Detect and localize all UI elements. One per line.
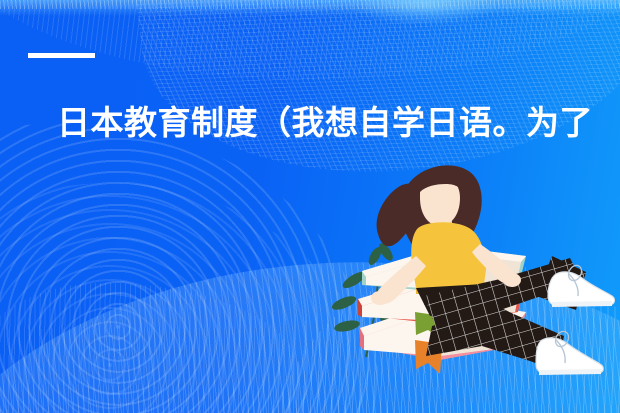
- right-hand: [503, 273, 521, 287]
- top-light-band: [0, 0, 620, 16]
- top-glow: [350, 0, 500, 26]
- page-title: 日本教育制度（我想自学日语。为了: [57, 102, 597, 143]
- top-curve-mesh: [0, 0, 620, 80]
- left-hand: [371, 291, 389, 305]
- bottom-left-mesh: [0, 283, 300, 413]
- accent-rule: [28, 53, 95, 58]
- illustration-woman-sitting-on-books: [320, 160, 620, 413]
- banner: 日本教育制度（我想自学日语。为了: [0, 0, 620, 413]
- top-line-band: [0, 0, 620, 9]
